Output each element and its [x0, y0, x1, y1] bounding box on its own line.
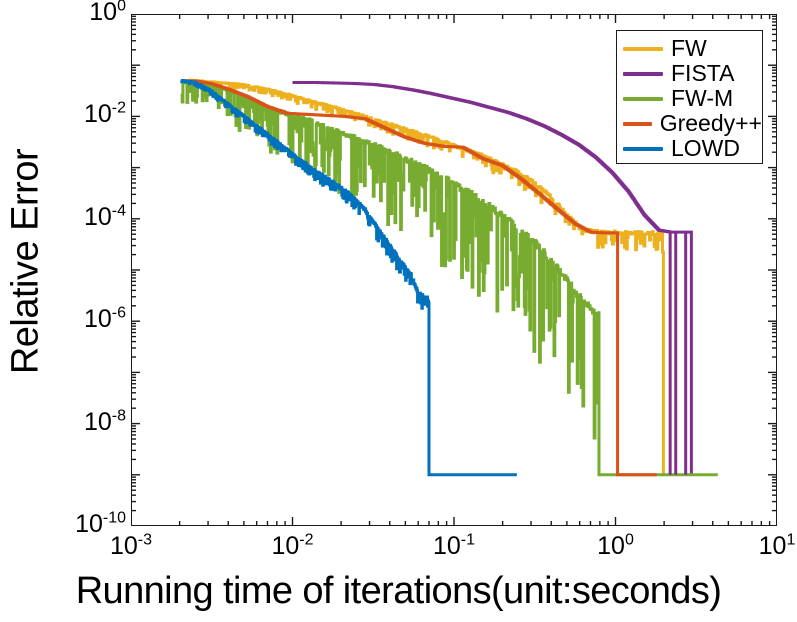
- y-axis: Relative Error 10010-210-410-610-810-10: [0, 0, 126, 540]
- series-lowd: [181, 80, 516, 474]
- y-tick-label: 10-4: [84, 205, 126, 230]
- legend-swatch-icon: [623, 147, 663, 151]
- y-tick-label: 10-2: [84, 102, 126, 127]
- x-tick-label: 10-3: [110, 533, 152, 560]
- series-greedy-: [181, 81, 656, 475]
- legend-label: LOWD: [671, 137, 740, 160]
- y-tick-label: 10-8: [84, 410, 126, 435]
- legend-swatch-icon: [623, 47, 663, 51]
- legend-label: FISTA: [671, 62, 734, 85]
- legend-swatch-icon: [623, 122, 652, 126]
- legend-swatch-icon: [623, 72, 663, 76]
- x-tick-labels: 10-310-210-1100101: [0, 533, 797, 573]
- legend-label: FW: [671, 37, 707, 60]
- chart-figure: Relative Error 10010-210-410-610-810-10 …: [0, 0, 797, 622]
- legend-item-greedy-[interactable]: Greedy++: [617, 111, 762, 136]
- y-axis-label: Relative Error: [5, 12, 48, 512]
- y-tick-label: 10-6: [84, 307, 126, 332]
- series-fw: [181, 80, 663, 475]
- x-tick-label: 101: [759, 533, 796, 560]
- legend-item-fw[interactable]: FW: [617, 36, 762, 61]
- legend-item-lowd[interactable]: LOWD: [617, 136, 762, 161]
- x-tick-label: 10-2: [271, 533, 313, 560]
- y-axis-label-wrap: Relative Error: [0, 0, 54, 526]
- legend-label: FW-M: [671, 87, 733, 110]
- legend-swatch-icon: [623, 97, 663, 101]
- legend-label: Greedy++: [660, 112, 762, 135]
- x-tick-label: 100: [597, 533, 634, 560]
- legend-item-fw-m[interactable]: FW-M: [617, 86, 762, 111]
- x-tick-label: 10-1: [433, 533, 475, 560]
- legend: FWFISTAFW-MGreedy++LOWD: [616, 30, 763, 164]
- legend-item-fista[interactable]: FISTA: [617, 61, 762, 86]
- series-fista-spikes: [670, 232, 686, 475]
- x-axis-label: Running time of iterations(unit:seconds): [0, 570, 797, 613]
- y-tick-label: 100: [89, 0, 126, 25]
